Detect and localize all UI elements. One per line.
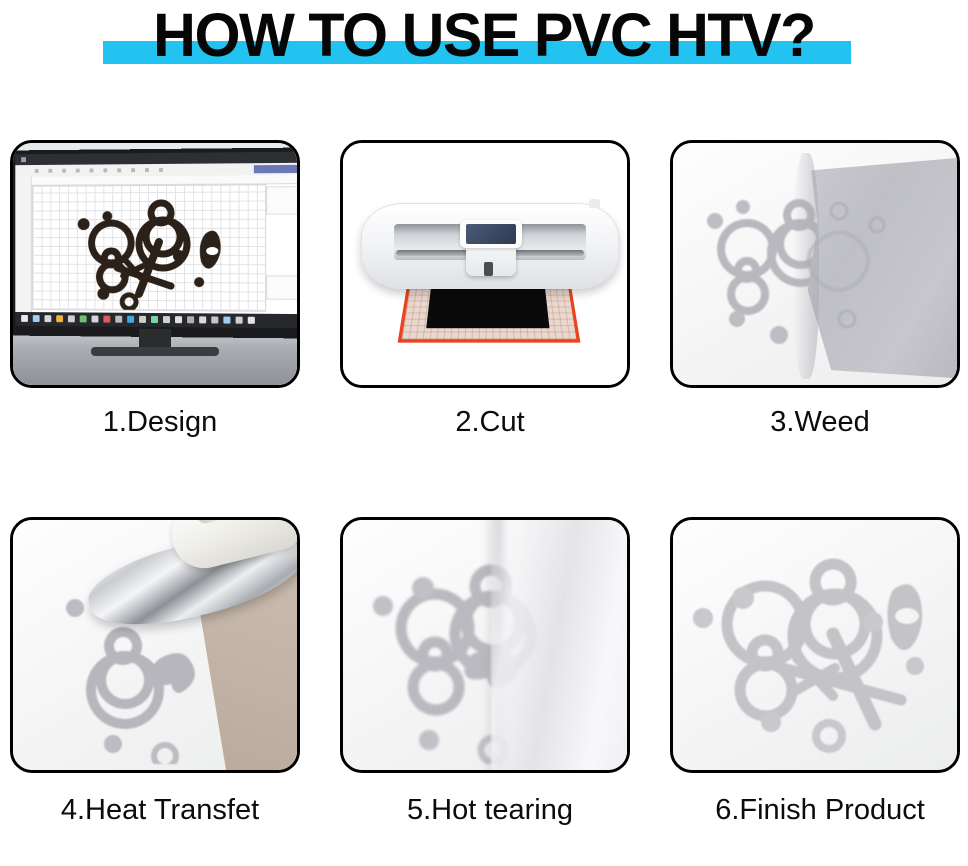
scene-hot-tearing	[343, 520, 627, 770]
step-caption-6: 6.Finish Product	[670, 793, 968, 827]
carrier-sheet	[491, 517, 630, 773]
page-title: HOW TO USE PVC HTV?	[15, 0, 954, 70]
lollipop-artwork	[56, 190, 225, 311]
step-caption-4: 4.Heat Transfet	[10, 793, 310, 827]
scene-finished-product	[673, 520, 957, 770]
step-caption-3: 3.Weed	[670, 405, 968, 439]
step-card-5: 5.Hot tearing	[340, 517, 640, 827]
weeded-holes	[803, 173, 953, 363]
step-card-2: 2.Cut	[340, 140, 640, 439]
steps-grid: 1.Design	[0, 132, 968, 866]
step-image-4	[10, 517, 300, 773]
step-card-4: 4.Heat Transfet	[10, 517, 310, 827]
lollipop-artwork	[687, 534, 945, 760]
cutting-machine-icon	[361, 203, 619, 289]
step-caption-5: 5.Hot tearing	[340, 793, 640, 827]
scene-design	[13, 143, 297, 385]
step-image-6	[670, 517, 960, 773]
scene-heat-transfer	[13, 520, 297, 770]
step-card-3: 3.Weed	[670, 140, 968, 439]
step-image-5	[340, 517, 630, 773]
step-image-3	[670, 140, 960, 388]
step-card-1: 1.Design	[10, 140, 310, 439]
step-caption-2: 2.Cut	[340, 405, 640, 439]
step-caption-1: 1.Design	[10, 405, 310, 439]
step-image-1	[10, 140, 300, 388]
page-header: HOW TO USE PVC HTV?	[0, 0, 968, 96]
scene-cut	[343, 143, 627, 385]
scene-weed	[673, 143, 957, 385]
monitor-icon	[11, 148, 300, 339]
step-card-6: 6.Finish Product	[670, 517, 968, 827]
step-image-2	[340, 140, 630, 388]
